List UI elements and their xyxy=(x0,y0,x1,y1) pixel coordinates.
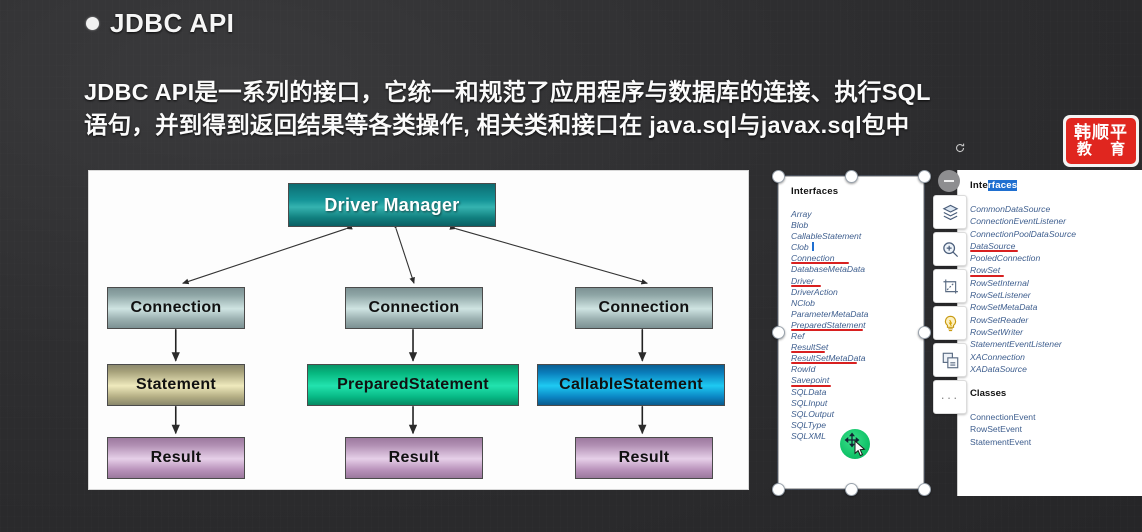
idea-bulb-icon[interactable] xyxy=(933,306,967,340)
list-item-label: CallableStatement xyxy=(791,231,861,241)
list-item[interactable]: ResultSet xyxy=(791,342,913,353)
crop-icon[interactable] xyxy=(933,269,967,303)
list-item[interactable]: Driver xyxy=(791,276,913,287)
list-item[interactable]: RowSetListener xyxy=(970,289,1134,301)
interface-list-java-sql[interactable]: ArrayBlobCallableStatementClobConnection… xyxy=(791,209,913,442)
list-item[interactable]: PooledConnection xyxy=(970,252,1134,264)
classes-heading: Classes xyxy=(970,388,1134,399)
node-connection-2: Connection xyxy=(345,287,483,329)
list-item[interactable]: ConnectionEventListener xyxy=(970,215,1134,227)
move-cursor-highlight[interactable] xyxy=(840,429,870,459)
javadoc-panel-javax-sql[interactable]: Interfaces CommonDataSourceConnectionEve… xyxy=(957,170,1142,496)
list-item[interactable]: SQLOutput xyxy=(791,409,913,420)
panel-right-heading: Interfaces xyxy=(970,180,1134,191)
list-item-label: RowSetWriter xyxy=(970,327,1023,337)
list-item[interactable]: RowSetEvent xyxy=(970,423,1134,435)
list-item-label: RowId xyxy=(791,364,815,374)
list-item-label: SQLInput xyxy=(791,398,827,408)
interface-list-javax-sql[interactable]: CommonDataSourceConnectionEventListenerC… xyxy=(970,203,1134,375)
list-item-label: RowSetInternal xyxy=(970,278,1029,288)
node-callable-statement: CallableStatement xyxy=(537,364,725,406)
list-item-label: DataSource xyxy=(970,241,1015,251)
selection-handle-middle-left[interactable] xyxy=(772,326,785,339)
list-item-label: Connection xyxy=(791,253,834,263)
paragraph-line-2: 语句，并到得到返回结果等各类操作, 相关类和接口在 java.sql与javax… xyxy=(84,109,1084,142)
slide-paragraph: JDBC API是一系列的接口，它统一和规范了应用程序与数据库的连接、执行SQL… xyxy=(84,76,1084,142)
panel-right-heading-plain: Inte xyxy=(970,180,988,191)
list-item[interactable]: Savepoint xyxy=(791,375,913,386)
paragraph-line-1: JDBC API是一系列的接口，它统一和规范了应用程序与数据库的连接、执行SQL xyxy=(84,76,1084,109)
selection-handle-bottom-left[interactable] xyxy=(772,483,785,496)
panel-right-heading-selection: rfaces xyxy=(988,180,1017,191)
list-item[interactable]: DatabaseMetaData xyxy=(791,264,913,275)
list-item-label: XAConnection xyxy=(970,352,1025,362)
list-item-label: DatabaseMetaData xyxy=(791,264,865,274)
list-item[interactable]: Clob xyxy=(791,242,913,253)
list-item[interactable]: StatementEventListener xyxy=(970,338,1134,350)
list-item[interactable]: DataSource xyxy=(970,240,1134,252)
list-item-label: RowSetListener xyxy=(970,290,1031,300)
list-item-label: SQLOutput xyxy=(791,409,834,419)
list-item[interactable]: XAConnection xyxy=(970,351,1134,363)
list-item-label: StatementEventListener xyxy=(970,339,1062,349)
node-statement: Statement xyxy=(107,364,245,406)
node-prepared-statement: PreparedStatement xyxy=(307,364,519,406)
list-item[interactable]: SQLInput xyxy=(791,398,913,409)
list-item-label: Array xyxy=(791,209,812,219)
list-item[interactable]: RowId xyxy=(791,364,913,375)
list-item[interactable]: NClob xyxy=(791,298,913,309)
list-item[interactable]: ParameterMetaData xyxy=(791,309,913,320)
list-item-label: PreparedStatement xyxy=(791,320,866,330)
list-item[interactable]: RowSetWriter xyxy=(970,326,1134,338)
list-item[interactable]: SQLData xyxy=(791,387,913,398)
list-item[interactable]: ConnectionEvent xyxy=(970,411,1134,423)
list-item[interactable]: RowSetMetaData xyxy=(970,301,1134,313)
logo-line-2: 教 育 xyxy=(1070,142,1132,158)
rotate-glyph-icon xyxy=(954,141,966,153)
node-connection-1: Connection xyxy=(107,287,245,329)
selection-handle-bottom-right[interactable] xyxy=(918,483,931,496)
list-item-label: CommonDataSource xyxy=(970,204,1050,214)
more-options-label: ··· xyxy=(941,390,960,405)
bullet-dot-icon xyxy=(86,17,99,30)
list-item[interactable]: Ref xyxy=(791,331,913,342)
list-item[interactable]: Blob xyxy=(791,220,913,231)
zoom-in-icon[interactable] xyxy=(933,232,967,266)
node-result-3: Result xyxy=(575,437,713,479)
list-item[interactable]: PreparedStatement xyxy=(791,320,913,331)
list-item-label: SQLType xyxy=(791,420,826,430)
list-item-label: RowSetReader xyxy=(970,315,1028,325)
list-item-label: ResultSetMetaData xyxy=(791,353,866,363)
list-item-label: ParameterMetaData xyxy=(791,309,868,319)
class-list-javax-sql[interactable]: ConnectionEventRowSetEventStatementEvent xyxy=(970,411,1134,448)
node-driver-manager: Driver Manager xyxy=(288,183,496,227)
list-item-label: RowSetMetaData xyxy=(970,302,1037,312)
duplicate-icon[interactable] xyxy=(933,343,967,377)
list-item-label: SQLData xyxy=(791,387,826,397)
more-options-icon[interactable]: ··· xyxy=(933,380,967,414)
list-item-label: Ref xyxy=(791,331,804,341)
list-item[interactable]: ResultSetMetaData xyxy=(791,353,913,364)
list-item[interactable]: ConnectionPoolDataSource xyxy=(970,228,1134,240)
list-item-label: RowSetEvent xyxy=(970,424,1022,434)
list-item[interactable]: Connection xyxy=(791,253,913,264)
selection-handle-bottom-center[interactable] xyxy=(845,483,858,496)
slide-heading: JDBC API xyxy=(86,8,234,39)
panel-left-heading: Interfaces xyxy=(791,186,913,197)
list-item[interactable]: RowSetReader xyxy=(970,314,1134,326)
list-item-label: PooledConnection xyxy=(970,253,1040,263)
list-item-label: StatementEvent xyxy=(970,437,1031,447)
selection-handle-top-left[interactable] xyxy=(772,170,785,183)
list-item[interactable]: CallableStatement xyxy=(791,231,913,242)
floating-toolbar[interactable]: ··· xyxy=(933,195,967,414)
list-item-label: ConnectionEvent xyxy=(970,412,1035,422)
list-item-label: XADataSource xyxy=(970,364,1027,374)
list-item[interactable]: StatementEvent xyxy=(970,436,1134,448)
list-item-label: ConnectionPoolDataSource xyxy=(970,229,1076,239)
node-result-1: Result xyxy=(107,437,245,479)
list-item-label: RowSet xyxy=(970,265,1000,275)
list-item-label: Savepoint xyxy=(791,375,829,385)
list-item-label: Clob xyxy=(791,242,809,252)
page-title: JDBC API xyxy=(110,8,234,39)
list-item-label: ConnectionEventListener xyxy=(970,216,1066,226)
jdbc-architecture-diagram: Driver Manager Connection Connection Con… xyxy=(88,170,749,490)
selection-handle-top-right[interactable] xyxy=(918,170,931,183)
list-item-label: SQLXML xyxy=(791,431,826,441)
list-item-label: DriverAction xyxy=(791,287,838,297)
list-item[interactable]: RowSet xyxy=(970,264,1134,276)
list-item[interactable]: XADataSource xyxy=(970,363,1134,375)
text-caret xyxy=(812,242,814,251)
list-item[interactable]: CommonDataSource xyxy=(970,203,1134,215)
logo-line-1: 韩顺平 xyxy=(1074,124,1128,142)
node-result-2: Result xyxy=(345,437,483,479)
list-item[interactable]: RowSetInternal xyxy=(970,277,1134,289)
selection-handle-middle-right[interactable] xyxy=(918,326,931,339)
list-item-label: Blob xyxy=(791,220,808,230)
layers-icon[interactable] xyxy=(933,195,967,229)
list-item-label: ResultSet xyxy=(791,342,828,352)
list-item-label: Driver xyxy=(791,276,814,286)
selection-handle-top-center[interactable] xyxy=(845,170,858,183)
brand-logo: 韩顺平 教 育 xyxy=(1063,115,1139,167)
node-connection-3: Connection xyxy=(575,287,713,329)
list-item[interactable]: DriverAction xyxy=(791,287,913,298)
mouse-pointer-icon xyxy=(854,440,867,457)
collapse-toolbar-button[interactable] xyxy=(938,170,960,192)
list-item-label: NClob xyxy=(791,298,815,308)
list-item[interactable]: Array xyxy=(791,209,913,220)
